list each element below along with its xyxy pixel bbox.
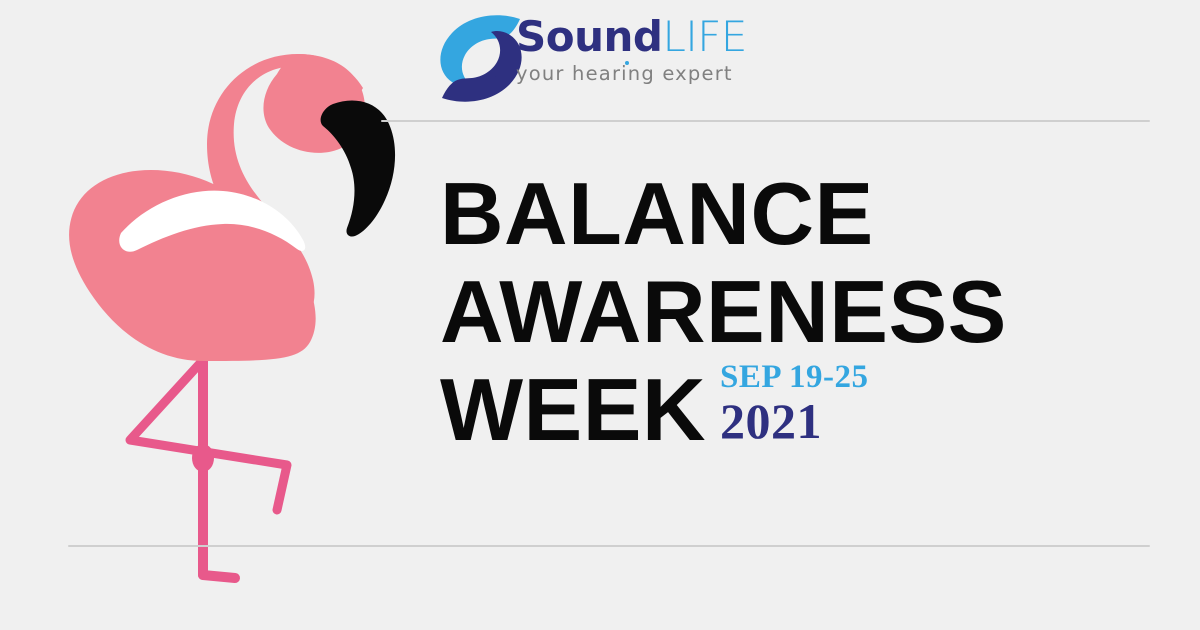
tagline-part-3: ng expert	[628, 62, 733, 85]
balance-awareness-week-banner: SoundLIFE your hearing expert BALANCE AW…	[0, 0, 1200, 630]
logo-mark-svg	[434, 8, 526, 108]
headline-line-week-row: WEEK SEP 19-25 2021	[440, 361, 1170, 459]
wordmark-sound: Sound	[516, 12, 662, 61]
event-date-range: SEP 19-25	[720, 361, 868, 394]
soundlife-tagline: your hearing expert	[516, 62, 776, 86]
flamingo-knee-joint	[192, 444, 214, 472]
tagline-part-2: i	[621, 62, 628, 85]
soundlife-wordmark: SoundLIFE	[516, 14, 776, 60]
bottom-horizontal-rule	[68, 545, 1150, 547]
headline-line-week: WEEK	[440, 361, 706, 459]
headline-line-awareness: AWARENESS	[440, 263, 1170, 361]
flamingo-svg	[55, 40, 415, 600]
tagline-part-1: your hear	[516, 62, 621, 85]
wordmark-life: LIFE	[662, 12, 746, 61]
top-horizontal-rule	[381, 120, 1150, 122]
logo-mark-head-light	[462, 22, 482, 42]
headline-line-balance: BALANCE	[440, 165, 1170, 263]
soundlife-logo[interactable]: SoundLIFE your hearing expert	[434, 8, 774, 108]
headline-block: BALANCE AWARENESS WEEK SEP 19-25 2021	[440, 165, 1170, 459]
logo-mark-head-dark	[480, 75, 500, 95]
soundlife-swoosh-logo-mark-icon	[434, 8, 526, 108]
event-date-block: SEP 19-25 2021	[720, 361, 868, 459]
flamingo-illustration	[55, 40, 415, 600]
soundlife-wordmark-group: SoundLIFE your hearing expert	[516, 14, 776, 86]
event-date-year: 2021	[720, 395, 822, 447]
